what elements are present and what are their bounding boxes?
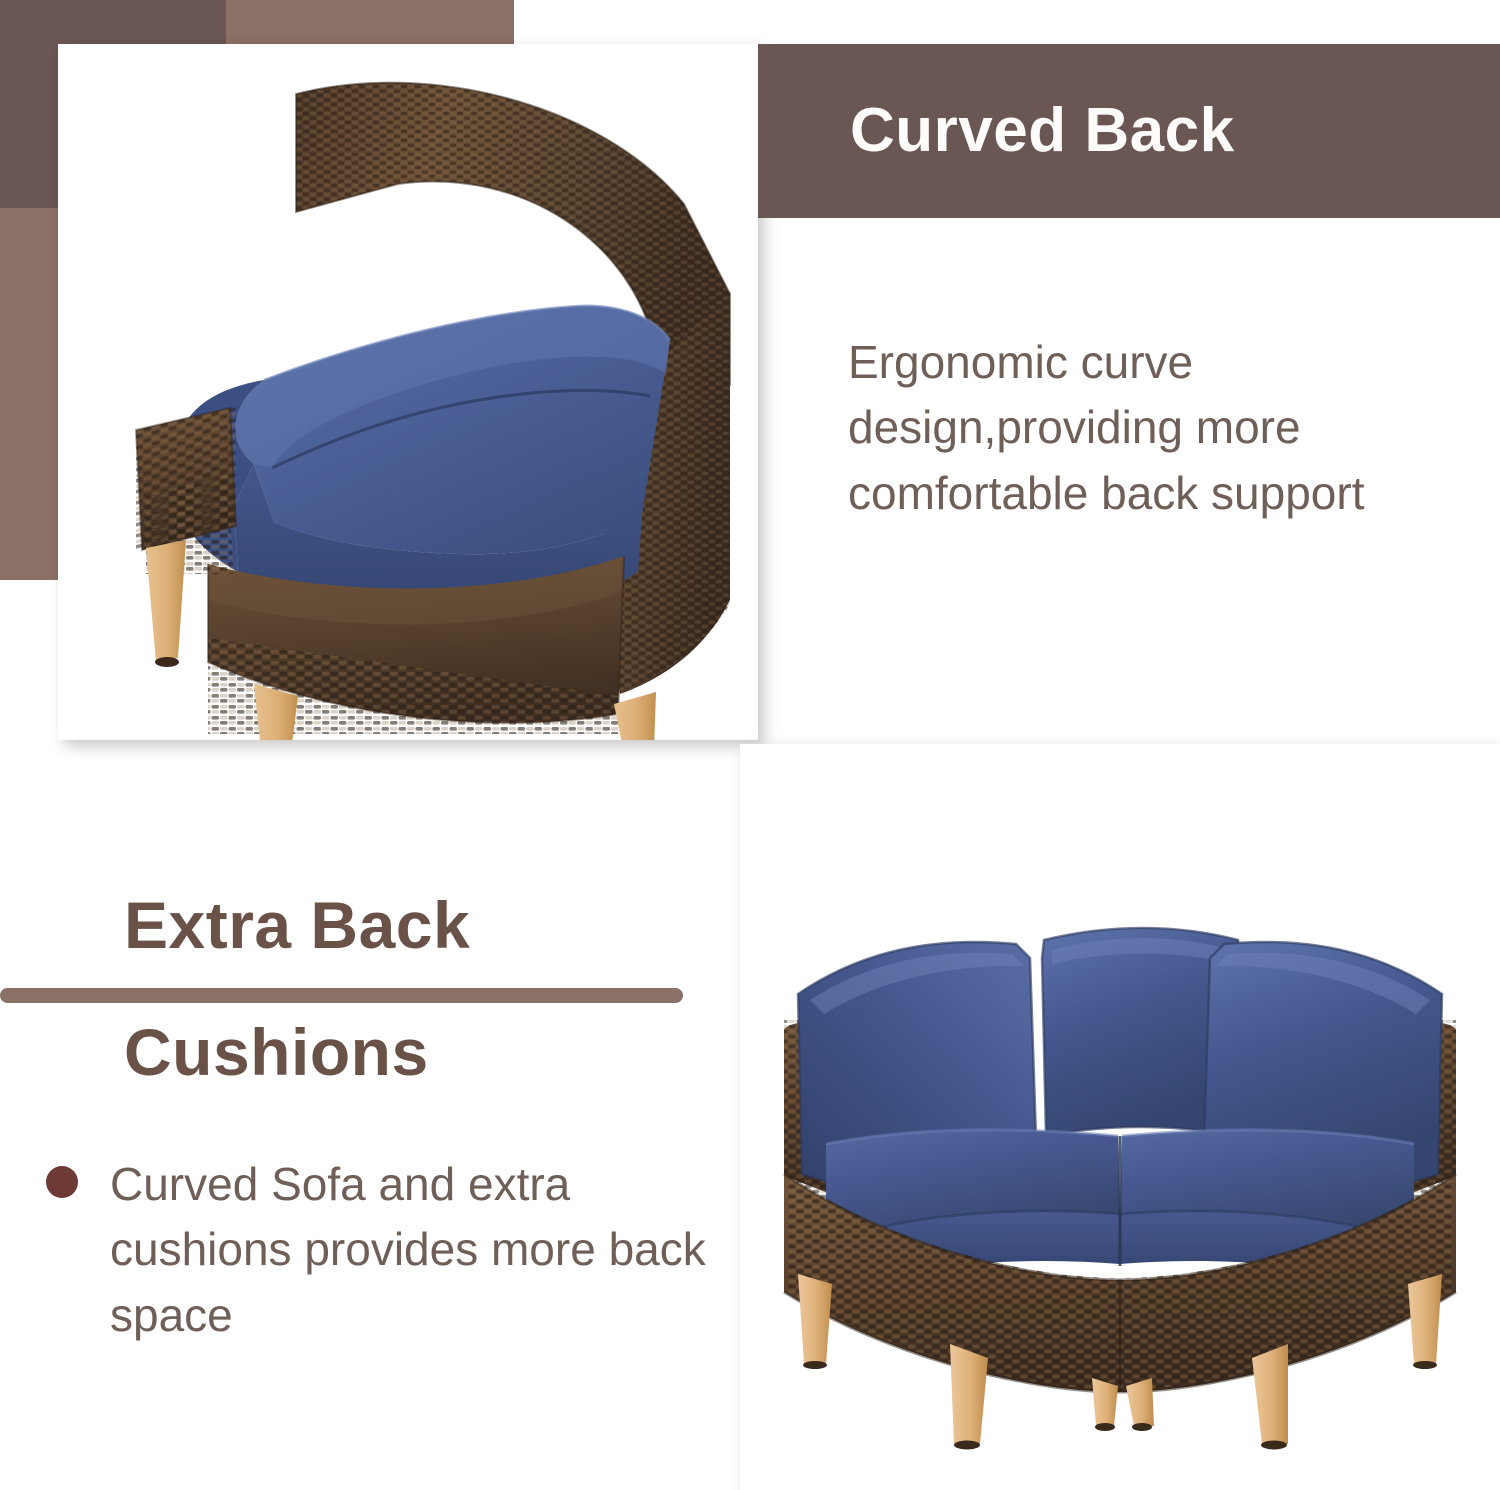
decor-left-light-bar	[0, 208, 58, 580]
section-banner-curved-back: Curved Back	[758, 44, 1500, 218]
sofa-leg-left	[950, 1344, 988, 1450]
decor-top-light-bar	[226, 0, 514, 44]
feature-heading-line-1: Extra Back	[124, 892, 470, 958]
curved-sectional-sofa-illustration	[740, 744, 1500, 1490]
decor-left-dark-bar	[0, 0, 58, 208]
feature-bullet-item: Curved Sofa and extra cushions provides …	[46, 1152, 726, 1348]
sofa-leg-right	[1252, 1344, 1288, 1450]
product-photo-curved-sofa	[740, 744, 1500, 1490]
bullet-dot-icon	[46, 1166, 78, 1198]
feature-bullet-text: Curved Sofa and extra cushions provides …	[110, 1152, 726, 1348]
product-photo-curved-back	[58, 44, 758, 740]
feature-divider-rule	[0, 988, 683, 1003]
chair-leg-left	[146, 540, 186, 667]
sofa-leg-center-left	[1092, 1378, 1118, 1431]
sofa-leg-center-right	[1126, 1378, 1154, 1431]
curved-back-chair-illustration	[58, 44, 758, 740]
sofa-leg-far-right	[1408, 1274, 1442, 1369]
sofa-leg-far-left	[798, 1274, 832, 1369]
feature-heading-line-2: Cushions	[124, 1019, 429, 1085]
banner-title: Curved Back	[850, 100, 1235, 162]
feature-description-curved-back: Ergonomic curve design,providing more co…	[848, 330, 1468, 526]
chair-leg-right	[614, 692, 656, 740]
